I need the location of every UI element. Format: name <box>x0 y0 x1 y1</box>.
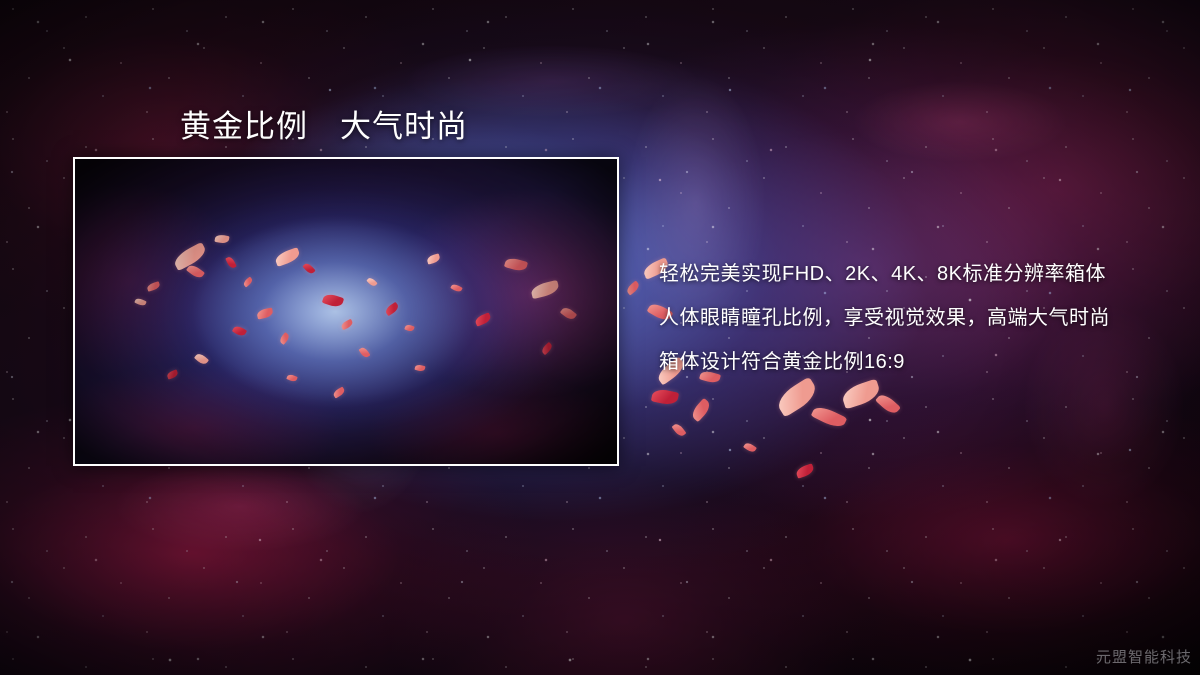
body-copy-block: 轻松完美实现FHD、2K、4K、8K标准分辨率箱体 人体眼睛瞳孔比例，享受视觉效… <box>659 252 1179 384</box>
slide-headline: 黄金比例 大气时尚 <box>180 101 468 146</box>
body-copy-line: 人体眼睛瞳孔比例，享受视觉效果，高端大气时尚 <box>659 296 1179 340</box>
body-copy-line: 箱体设计符合黄金比例16:9 <box>659 340 1179 384</box>
watermark: 元盟智能科技 <box>1096 646 1192 667</box>
presentation-slide: 黄金比例 大气时尚 轻松完美实现FHD、2K、4K、8K标准分辨率箱体 人体眼睛… <box>0 0 1200 675</box>
body-copy-line: 轻松完美实现FHD、2K、4K、8K标准分辨率箱体 <box>659 252 1179 296</box>
inset-vignette <box>75 159 617 464</box>
framed-product-image <box>73 157 619 466</box>
